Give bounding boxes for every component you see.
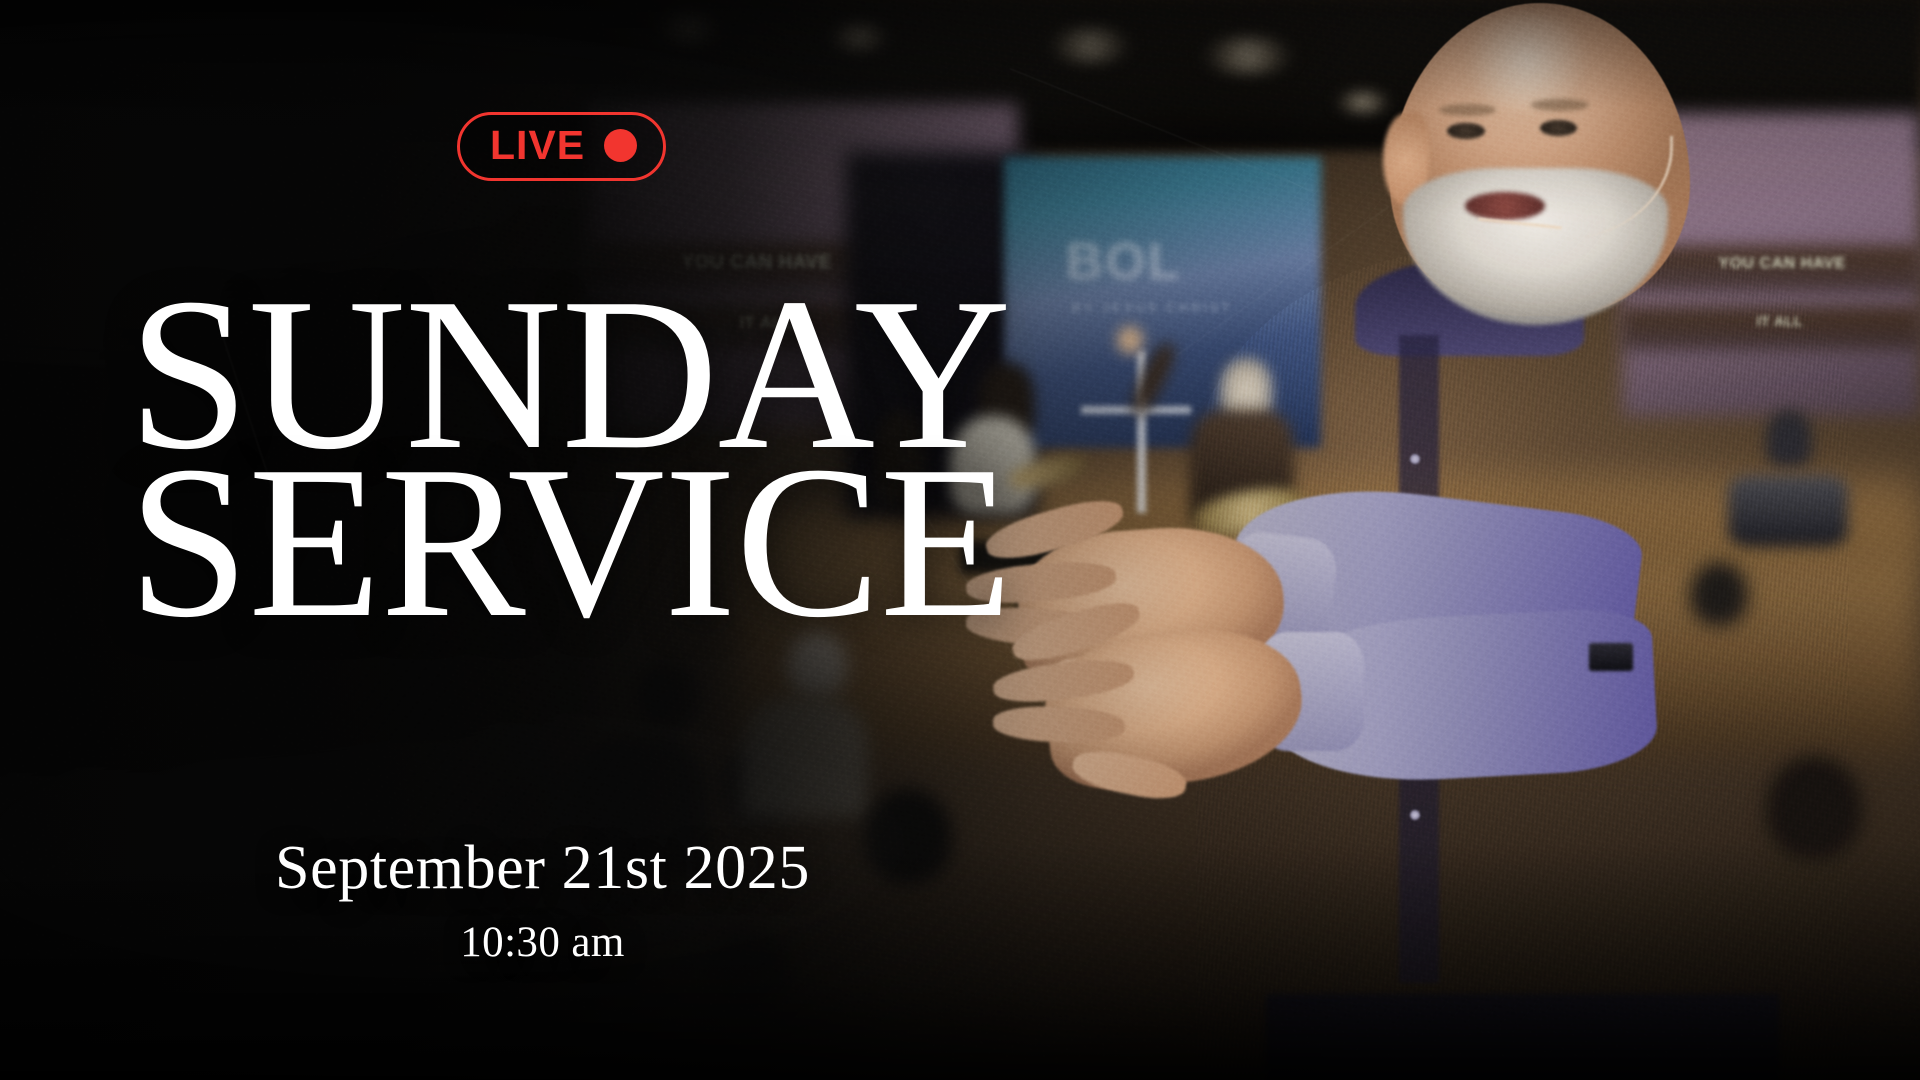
- headline-line-2: SERVICE: [128, 456, 1012, 630]
- live-badge[interactable]: LIVE: [457, 112, 666, 181]
- event-datetime: September 21st 2025 10:30 am: [0, 836, 1085, 967]
- event-time: 10:30 am: [0, 918, 1085, 967]
- page-title: SUNDAY SERVICE: [128, 288, 1012, 631]
- event-date: September 21st 2025: [0, 836, 1085, 901]
- live-badge-label: LIVE: [490, 125, 585, 166]
- live-dot-icon: [604, 129, 637, 162]
- sunday-service-live-poster: YOU CAN HAVE IT ALL YOU CAN HAVE IT ALL …: [0, 0, 1920, 1080]
